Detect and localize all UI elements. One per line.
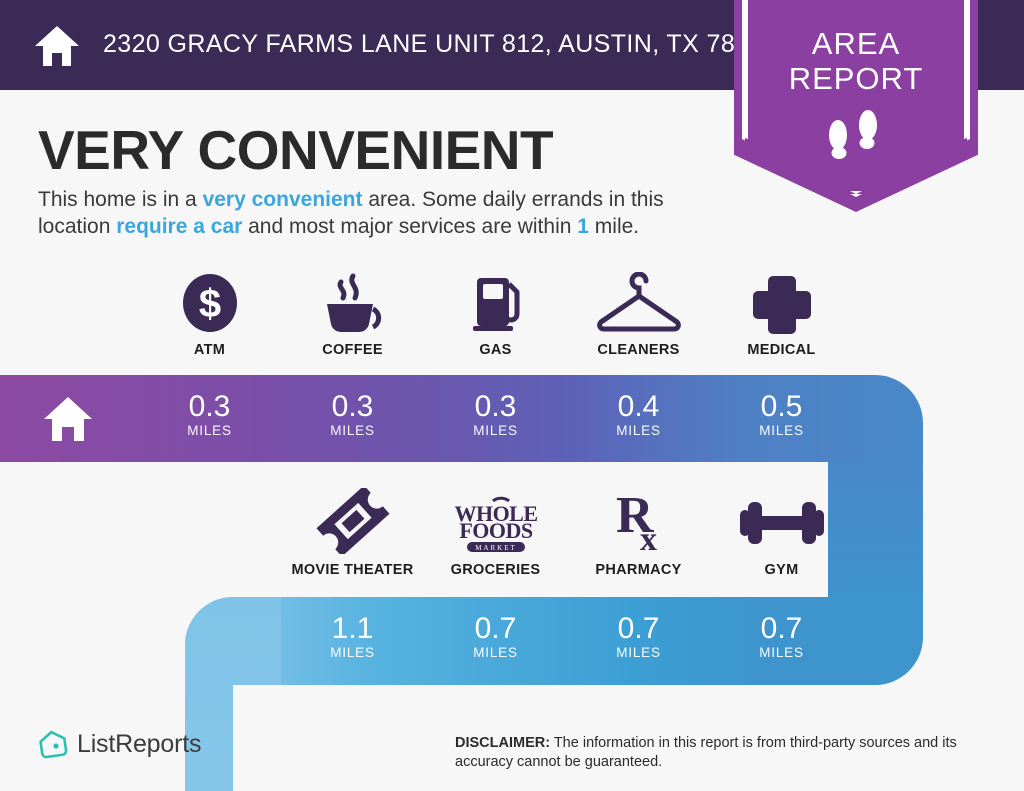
coffee-cup-icon (281, 272, 424, 334)
distance-unit: MILES (567, 645, 710, 660)
distance-value: 0.3 (281, 375, 424, 423)
property-address: 2320 GRACY FARMS LANE UNIT 812, AUSTIN, … (103, 30, 778, 59)
desc-part-3: and most major services are within (242, 215, 577, 238)
service-cleaners[interactable]: CLEANERS (567, 272, 710, 358)
distance-unit: MILES (281, 645, 424, 660)
service-label: ATM (138, 342, 281, 358)
distance-unit: MILES (281, 423, 424, 438)
distance-value: 0.7 (710, 597, 853, 645)
distance-atm: 0.3 MILES (138, 375, 281, 438)
distance-value: 0.5 (710, 375, 853, 423)
desc-part-1: This home is in a (38, 188, 203, 211)
service-medical[interactable]: MEDICAL (710, 272, 853, 358)
distance-gas: 0.3 MILES (424, 375, 567, 438)
distance-medical: 0.5 MILES (710, 375, 853, 438)
distance-value: 0.4 (567, 375, 710, 423)
distance-row-2: 1.1 MILES 0.7 MILES 0.7 MILES 0.7 MILES (0, 597, 1024, 685)
distance-pharmacy: 0.7 MILES (567, 597, 710, 660)
svg-text:$: $ (198, 282, 220, 326)
desc-part-4: mile. (589, 215, 639, 238)
desc-highlight-3: 1 (577, 215, 589, 238)
service-atm[interactable]: $ ATM (138, 272, 281, 358)
listreports-logo[interactable]: ListReports (38, 729, 201, 759)
whole-foods-logo: WHOLE FOODS MARKET (424, 492, 567, 554)
dollar-circle-icon: $ (138, 272, 281, 334)
distance-unit: MILES (567, 423, 710, 438)
hanger-icon (567, 272, 710, 334)
distance-value: 1.1 (281, 597, 424, 645)
desc-highlight-2: require a car (116, 215, 242, 238)
service-label: GROCERIES (424, 562, 567, 578)
distance-groceries: 0.7 MILES (424, 597, 567, 660)
distance-row-1: 0.3 MILES 0.3 MILES 0.3 MILES 0.4 MILES … (0, 375, 1024, 463)
home-icon (33, 22, 81, 70)
service-gas[interactable]: GAS (424, 272, 567, 358)
service-pharmacy[interactable]: R x PHARMACY (567, 492, 710, 578)
service-label: PHARMACY (567, 562, 710, 578)
rx-icon: R x (567, 492, 710, 554)
disclaimer-label: DISCLAIMER: (455, 735, 550, 751)
service-groceries[interactable]: WHOLE FOODS MARKET GROCERIES (424, 492, 567, 578)
dumbbell-icon (710, 492, 853, 554)
page-title: VERY CONVENIENT (38, 118, 553, 182)
service-label: COFFEE (281, 342, 424, 358)
distance-unit: MILES (710, 423, 853, 438)
service-movie-theater[interactable]: MOVIE THEATER (281, 492, 424, 578)
distance-movie-theater: 1.1 MILES (281, 597, 424, 660)
distance-unit: MILES (138, 423, 281, 438)
badge-title-line-1: AREA (734, 26, 978, 62)
service-coffee[interactable]: COFFEE (281, 272, 424, 358)
service-gym[interactable]: GYM (710, 492, 853, 578)
gas-pump-icon (424, 272, 567, 334)
distance-value: 0.3 (424, 375, 567, 423)
service-label: GYM (710, 562, 853, 578)
desc-highlight-1: very convenient (203, 188, 363, 211)
distance-unit: MILES (424, 423, 567, 438)
page-description: This home is in a very convenient area. … (38, 186, 728, 240)
distance-cleaners: 0.4 MILES (567, 375, 710, 438)
svg-text:x: x (640, 521, 657, 554)
distance-value: 0.7 (424, 597, 567, 645)
distance-unit: MILES (424, 645, 567, 660)
distance-gym: 0.7 MILES (710, 597, 853, 660)
service-label: MEDICAL (710, 342, 853, 358)
distance-unit: MILES (710, 645, 853, 660)
service-label: MOVIE THEATER (281, 562, 424, 578)
ticket-icon (281, 492, 424, 554)
svg-text:MARKET: MARKET (475, 544, 517, 552)
svg-text:FOODS: FOODS (459, 518, 533, 543)
logo-text: ListReports (77, 730, 201, 759)
distance-value: 0.3 (138, 375, 281, 423)
distance-coffee: 0.3 MILES (281, 375, 424, 438)
service-label: CLEANERS (567, 342, 710, 358)
service-label: GAS (424, 342, 567, 358)
disclaimer: DISCLAIMER: The information in this repo… (455, 734, 1005, 772)
medical-cross-icon (710, 272, 853, 334)
distance-value: 0.7 (567, 597, 710, 645)
badge-title-line-2: REPORT (734, 61, 978, 97)
footprints-icon (820, 105, 890, 167)
listreports-house-icon (38, 729, 68, 759)
